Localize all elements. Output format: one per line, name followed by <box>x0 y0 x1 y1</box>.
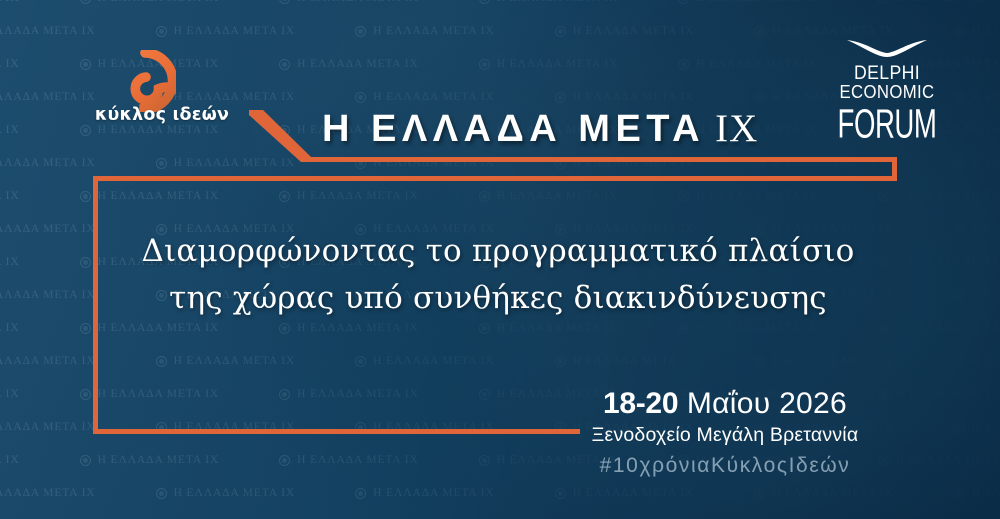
watermark-label: Η ΕΛΛΑΔΑ ΜΕΤΑ ΙΧ <box>0 454 20 466</box>
watermark-label: Η ΕΛΛΑΔΑ ΜΕΤΑ ΙΧ <box>696 322 818 334</box>
watermark-label: Η ΕΛΛΑΔΑ ΜΕΤΑ ΙΧ <box>174 355 296 367</box>
watermark-label: Η ΕΛΛΑΔΑ ΜΕΤΑ ΙΧ <box>0 0 20 4</box>
circle-outline-icon <box>878 191 889 202</box>
circle-outline-icon <box>555 26 566 37</box>
watermark-item: Η ΕΛΛΑΔΑ ΜΕΤΑ ΙΧ <box>954 487 1000 499</box>
circle-outline-icon <box>678 191 689 202</box>
watermark-item: Η ΕΛΛΑΔΑ ΜΕΤΑ ΙΧ <box>0 388 20 400</box>
poster-headline: Η ΕΛΛΑΔΑ ΜΕΤΑΙΧ <box>322 106 758 151</box>
watermark-item: Η ΕΛΛΑΔΑ ΜΕΤΑ ΙΧ <box>678 322 818 334</box>
circle-outline-icon <box>878 323 889 334</box>
watermark-item: Η ΕΛΛΑΔΑ ΜΕΤΑ ΙΧ <box>555 355 695 367</box>
watermark-label: Η ΕΛΛΑΔΑ ΜΕΤΑ ΙΧ <box>772 355 894 367</box>
watermark-label: Η ΕΛΛΑΔΑ ΜΕΤΑ ΙΧ <box>696 0 818 4</box>
watermark-label: Η ΕΛΛΑΔΑ ΜΕΤΑ ΙΧ <box>174 487 296 499</box>
watermark-item: Η ΕΛΛΑΔΑ ΜΕΤΑ ΙΧ <box>878 454 1000 466</box>
watermark-label: Η ΕΛΛΑΔΑ ΜΕΤΑ ΙΧ <box>98 124 220 136</box>
circle-outline-icon <box>80 455 91 466</box>
circle-outline-icon <box>555 488 566 499</box>
circle-outline-icon <box>954 356 965 367</box>
watermark-item: Η ΕΛΛΑΔΑ ΜΕΤΑ ΙΧ <box>80 124 220 136</box>
circle-outline-icon <box>678 0 689 4</box>
watermark-item: Η ΕΛΛΑΔΑ ΜΕΤΑ ΙΧ <box>878 388 1000 400</box>
watermark-label: Η ΕΛΛΑΔΑ ΜΕΤΑ ΙΧ <box>896 190 1000 202</box>
poster-subtitle: Διαμορφώνοντας το προγραμματικό πλαίσιο … <box>98 228 898 322</box>
watermark-label: Η ΕΛΛΑΔΑ ΜΕΤΑ ΙΧ <box>573 355 695 367</box>
watermark-item: Η ΕΛΛΑΔΑ ΜΕΤΑ ΙΧ <box>80 190 220 202</box>
circle-outline-icon <box>355 92 366 103</box>
watermark-item: Η ΕΛΛΑΔΑ ΜΕΤΑ ΙΧ <box>0 421 96 433</box>
circle-outline-icon <box>279 389 290 400</box>
watermark-item: Η ΕΛΛΑΔΑ ΜΕΤΑ ΙΧ <box>678 0 818 4</box>
event-poster: Η ΕΛΛΑΔΑ ΜΕΤΑ ΙΧΗ ΕΛΛΑΔΑ ΜΕΤΑ ΙΧΗ ΕΛΛΑΔΑ… <box>0 0 1000 519</box>
circle-outline-icon <box>555 92 566 103</box>
watermark-label: Η ΕΛΛΑΔΑ ΜΕΤΑ ΙΧ <box>972 421 1000 433</box>
circle-outline-icon <box>678 323 689 334</box>
watermark-item: Η ΕΛΛΑΔΑ ΜΕΤΑ ΙΧ <box>954 355 1000 367</box>
headline-underline <box>305 157 897 162</box>
circle-outline-icon <box>279 323 290 334</box>
circle-outline-icon <box>279 191 290 202</box>
watermark-item: Η ΕΛΛΑΔΑ ΜΕΤΑ ΙΧ <box>80 388 220 400</box>
watermark-label: Η ΕΛΛΑΔΑ ΜΕΤΑ ΙΧ <box>573 25 695 37</box>
circle-outline-icon <box>156 26 167 37</box>
watermark-item: Η ΕΛΛΑΔΑ ΜΕΤΑ ΙΧ <box>0 190 20 202</box>
spiral-circle-icon <box>114 50 176 112</box>
watermark-item: Η ΕΛΛΑΔΑ ΜΕΤΑ ΙΧ <box>0 58 20 70</box>
watermark-item: Η ΕΛΛΑΔΑ ΜΕΤΑ ΙΧ <box>954 25 1000 37</box>
circle-outline-icon <box>156 158 167 169</box>
watermark-label: Η ΕΛΛΑΔΑ ΜΕΤΑ ΙΧ <box>373 25 495 37</box>
circle-outline-icon <box>954 422 965 433</box>
watermark-label: Η ΕΛΛΑΔΑ ΜΕΤΑ ΙΧ <box>174 25 296 37</box>
watermark-label: Η ΕΛΛΑΔΑ ΜΕΤΑ ΙΧ <box>573 487 695 499</box>
circle-outline-icon <box>479 59 490 70</box>
watermark-item: Η ΕΛΛΑΔΑ ΜΕΤΑ ΙΧ <box>678 58 818 70</box>
watermark-item: Η ΕΛΛΑΔΑ ΜΕΤΑ ΙΧ <box>156 355 296 367</box>
watermark-label: Η ΕΛΛΑΔΑ ΜΕΤΑ ΙΧ <box>896 256 1000 268</box>
watermark-label: Η ΕΛΛΑΔΑ ΜΕΤΑ ΙΧ <box>0 25 96 37</box>
circle-outline-icon <box>754 26 765 37</box>
headline-main: Η ΕΛΛΑΔΑ ΜΕΤΑ <box>322 108 705 150</box>
watermark-label: Η ΕΛΛΑΔΑ ΜΕΤΑ ΙΧ <box>0 487 96 499</box>
circle-outline-icon <box>754 356 765 367</box>
circle-outline-icon <box>954 224 965 235</box>
circle-outline-icon <box>878 0 889 4</box>
circle-outline-icon <box>355 26 366 37</box>
circle-outline-icon <box>678 59 689 70</box>
event-details: 18-20 Μαΐου 2026 Ξενοδοχείο Μεγάλη Βρετα… <box>560 387 890 478</box>
circle-outline-icon <box>279 0 290 4</box>
watermark-label: Η ΕΛΛΑΔΑ ΜΕΤΑ ΙΧ <box>696 190 818 202</box>
frame-bottom-edge <box>93 429 580 434</box>
circle-outline-icon <box>479 0 490 4</box>
watermark-item: Η ΕΛΛΑΔΑ ΜΕΤΑ ΙΧ <box>279 58 419 70</box>
event-date: 18-20 Μαΐου 2026 <box>560 387 890 421</box>
watermark-label: Η ΕΛΛΑΔΑ ΜΕΤΑ ΙΧ <box>0 223 96 235</box>
watermark-label: Η ΕΛΛΑΔΑ ΜΕΤΑ ΙΧ <box>0 421 96 433</box>
watermark-label: Η ΕΛΛΑΔΑ ΜΕΤΑ ΙΧ <box>98 322 220 334</box>
watermark-label: Η ΕΛΛΑΔΑ ΜΕΤΑ ΙΧ <box>896 0 1000 4</box>
circle-outline-icon <box>355 488 366 499</box>
watermark-label: Η ΕΛΛΑΔΑ ΜΕΤΑ ΙΧ <box>0 322 20 334</box>
watermark-item: Η ΕΛΛΑΔΑ ΜΕΤΑ ΙΧ <box>878 0 1000 4</box>
watermark-label: Η ΕΛΛΑΔΑ ΜΕΤΑ ΙΧ <box>297 322 419 334</box>
watermark-item: Η ΕΛΛΑΔΑ ΜΕΤΑ ΙΧ <box>0 355 96 367</box>
frame-top-edge <box>93 176 897 181</box>
watermark-item: Η ΕΛΛΑΔΑ ΜΕΤΑ ΙΧ <box>954 289 1000 301</box>
watermark-label: Η ΕΛΛΑΔΑ ΜΕΤΑ ΙΧ <box>98 190 220 202</box>
watermark-label: Η ΕΛΛΑΔΑ ΜΕΤΑ ΙΧ <box>98 388 220 400</box>
watermark-item: Η ΕΛΛΑΔΑ ΜΕΤΑ ΙΧ <box>555 487 695 499</box>
watermark-item: Η ΕΛΛΑΔΑ ΜΕΤΑ ΙΧ <box>156 25 296 37</box>
headline-roman-numeral: ΙΧ <box>705 107 758 150</box>
watermark-item: Η ΕΛΛΑΔΑ ΜΕΤΑ ΙΧ <box>954 91 1000 103</box>
watermark-label: Η ΕΛΛΑΔΑ ΜΕΤΑ ΙΧ <box>297 190 419 202</box>
watermark-label: Η ΕΛΛΑΔΑ ΜΕΤΑ ΙΧ <box>772 487 894 499</box>
watermark-label: Η ΕΛΛΑΔΑ ΜΕΤΑ ΙΧ <box>0 289 96 301</box>
watermark-label: Η ΕΛΛΑΔΑ ΜΕΤΑ ΙΧ <box>772 25 894 37</box>
watermark-item: Η ΕΛΛΑΔΑ ΜΕΤΑ ΙΧ <box>754 487 894 499</box>
watermark-label: Η ΕΛΛΑΔΑ ΜΕΤΑ ΙΧ <box>297 454 419 466</box>
watermark-label: Η ΕΛΛΑΔΑ ΜΕΤΑ ΙΧ <box>297 58 419 70</box>
watermark-label: Η ΕΛΛΑΔΑ ΜΕΤΑ ΙΧ <box>373 355 495 367</box>
watermark-label: Η ΕΛΛΑΔΑ ΜΕΤΑ ΙΧ <box>972 157 1000 169</box>
circle-outline-icon <box>355 356 366 367</box>
circle-outline-icon <box>555 356 566 367</box>
watermark-item: Η ΕΛΛΑΔΑ ΜΕΤΑ ΙΧ <box>355 487 495 499</box>
watermark-label: Η ΕΛΛΑΔΑ ΜΕΤΑ ΙΧ <box>497 322 619 334</box>
watermark-label: Η ΕΛΛΑΔΑ ΜΕΤΑ ΙΧ <box>972 91 1000 103</box>
watermark-item: Η ΕΛΛΑΔΑ ΜΕΤΑ ΙΧ <box>80 0 220 4</box>
watermark-label: Η ΕΛΛΑΔΑ ΜΕΤΑ ΙΧ <box>98 0 220 4</box>
watermark-label: Η ΕΛΛΑΔΑ ΜΕΤΑ ΙΧ <box>896 454 1000 466</box>
watermark-item: Η ΕΛΛΑΔΑ ΜΕΤΑ ΙΧ <box>678 190 818 202</box>
watermark-label: Η ΕΛΛΑΔΑ ΜΕΤΑ ΙΧ <box>0 190 20 202</box>
watermark-item: Η ΕΛΛΑΔΑ ΜΕΤΑ ΙΧ <box>355 91 495 103</box>
watermark-item: Η ΕΛΛΑΔΑ ΜΕΤΑ ΙΧ <box>754 355 894 367</box>
watermark-item: Η ΕΛΛΑΔΑ ΜΕΤΑ ΙΧ <box>479 0 619 4</box>
watermark-item: Η ΕΛΛΑΔΑ ΜΕΤΑ ΙΧ <box>479 322 619 334</box>
watermark-item: Η ΕΛΛΑΔΑ ΜΕΤΑ ΙΧ <box>279 0 419 4</box>
watermark-label: Η ΕΛΛΑΔΑ ΜΕΤΑ ΙΧ <box>0 256 20 268</box>
watermark-row: Η ΕΛΛΑΔΑ ΜΕΤΑ ΙΧΗ ΕΛΛΑΔΑ ΜΕΤΑ ΙΧΗ ΕΛΛΑΔΑ… <box>0 0 1000 4</box>
kyklos-ideon-logo: κύκλος ιδεών <box>82 50 242 125</box>
event-hashtag: #10χρόνιαΚύκλοςΙδεών <box>560 454 890 478</box>
watermark-label: Η ΕΛΛΑΔΑ ΜΕΤΑ ΙΧ <box>972 289 1000 301</box>
watermark-item: Η ΕΛΛΑΔΑ ΜΕΤΑ ΙΧ <box>0 157 96 169</box>
watermark-item: Η ΕΛΛΑΔΑ ΜΕΤΑ ΙΧ <box>0 25 96 37</box>
circle-outline-icon <box>479 389 490 400</box>
watermark-label: Η ΕΛΛΑΔΑ ΜΕΤΑ ΙΧ <box>497 0 619 4</box>
watermark-item: Η ΕΛΛΑΔΑ ΜΕΤΑ ΙΧ <box>555 91 695 103</box>
subtitle-line-2: της χώρας υπό συνθήκες διακινδύνευσης <box>98 275 898 322</box>
watermark-item: Η ΕΛΛΑΔΑ ΜΕΤΑ ΙΧ <box>479 190 619 202</box>
watermark-label: Η ΕΛΛΑΔΑ ΜΕΤΑ ΙΧ <box>0 58 20 70</box>
watermark-item: Η ΕΛΛΑΔΑ ΜΕΤΑ ΙΧ <box>878 190 1000 202</box>
watermark-label: Η ΕΛΛΑΔΑ ΜΕΤΑ ΙΧ <box>0 355 96 367</box>
watermark-item: Η ΕΛΛΑΔΑ ΜΕΤΑ ΙΧ <box>279 388 419 400</box>
delphi-economic-forum-logo: DELPHI ECONOMIC FORUM <box>828 38 946 135</box>
kyklos-ideon-name: κύκλος ιδεών <box>82 105 242 125</box>
watermark-item: Η ΕΛΛΑΔΑ ΜΕΤΑ ΙΧ <box>156 487 296 499</box>
watermark-item: Η ΕΛΛΑΔΑ ΜΕΤΑ ΙΧ <box>0 124 20 136</box>
circle-outline-icon <box>80 323 91 334</box>
watermark-item: Η ΕΛΛΑΔΑ ΜΕΤΑ ΙΧ <box>754 25 894 37</box>
watermark-label: Η ΕΛΛΑΔΑ ΜΕΤΑ ΙΧ <box>373 91 495 103</box>
watermark-item: Η ΕΛΛΑΔΑ ΜΕΤΑ ΙΧ <box>279 190 419 202</box>
circle-outline-icon <box>80 191 91 202</box>
watermark-item: Η ΕΛΛΑΔΑ ΜΕΤΑ ΙΧ <box>355 355 495 367</box>
circle-outline-icon <box>156 488 167 499</box>
watermark-item: Η ΕΛΛΑΔΑ ΜΕΤΑ ΙΧ <box>954 421 1000 433</box>
circle-outline-icon <box>754 92 765 103</box>
circle-outline-icon <box>479 323 490 334</box>
watermark-item: Η ΕΛΛΑΔΑ ΜΕΤΑ ΙΧ <box>0 223 96 235</box>
watermark-label: Η ΕΛΛΑΔΑ ΜΕΤΑ ΙΧ <box>0 124 20 136</box>
watermark-row: Η ΕΛΛΑΔΑ ΜΕΤΑ ΙΧΗ ΕΛΛΑΔΑ ΜΕΤΑ ΙΧΗ ΕΛΛΑΔΑ… <box>0 322 1000 334</box>
circle-outline-icon <box>754 488 765 499</box>
watermark-item: Η ΕΛΛΑΔΑ ΜΕΤΑ ΙΧ <box>0 487 96 499</box>
watermark-item: Η ΕΛΛΑΔΑ ΜΕΤΑ ΙΧ <box>954 223 1000 235</box>
circle-outline-icon <box>479 455 490 466</box>
circle-outline-icon <box>954 488 965 499</box>
watermark-label: Η ΕΛΛΑΔΑ ΜΕΤΑ ΙΧ <box>297 0 419 4</box>
watermark-item: Η ΕΛΛΑΔΑ ΜΕΤΑ ΙΧ <box>355 25 495 37</box>
watermark-item: Η ΕΛΛΑΔΑ ΜΕΤΑ ΙΧ <box>0 256 20 268</box>
watermark-item: Η ΕΛΛΑΔΑ ΜΕΤΑ ΙΧ <box>0 454 20 466</box>
watermark-item: Η ΕΛΛΑΔΑ ΜΕΤΑ ΙΧ <box>80 322 220 334</box>
watermark-label: Η ΕΛΛΑΔΑ ΜΕΤΑ ΙΧ <box>972 223 1000 235</box>
watermark-label: Η ΕΛΛΑΔΑ ΜΕΤΑ ΙΧ <box>98 454 220 466</box>
watermark-label: Η ΕΛΛΑΔΑ ΜΕΤΑ ΙΧ <box>896 322 1000 334</box>
watermark-label: Η ΕΛΛΑΔΑ ΜΕΤΑ ΙΧ <box>573 91 695 103</box>
watermark-item: Η ΕΛΛΑΔΑ ΜΕΤΑ ΙΧ <box>0 289 96 301</box>
watermark-row: Η ΕΛΛΑΔΑ ΜΕΤΑ ΙΧΗ ΕΛΛΑΔΑ ΜΕΤΑ ΙΧΗ ΕΛΛΑΔΑ… <box>0 25 1000 37</box>
circle-outline-icon <box>954 158 965 169</box>
circle-outline-icon <box>279 59 290 70</box>
circle-outline-icon <box>156 356 167 367</box>
watermark-item: Η ΕΛΛΑΔΑ ΜΕΤΑ ΙΧ <box>555 25 695 37</box>
circle-outline-icon <box>954 92 965 103</box>
circle-outline-icon <box>279 455 290 466</box>
circle-outline-icon <box>80 125 91 136</box>
watermark-label: Η ΕΛΛΑΔΑ ΜΕΤΑ ΙΧ <box>696 58 818 70</box>
event-date-rest: Μαΐου 2026 <box>687 387 847 420</box>
watermark-item: Η ΕΛΛΑΔΑ ΜΕΤΑ ΙΧ <box>479 58 619 70</box>
watermark-row: Η ΕΛΛΑΔΑ ΜΕΤΑ ΙΧΗ ΕΛΛΑΔΑ ΜΕΤΑ ΙΧΗ ΕΛΛΑΔΑ… <box>0 190 1000 202</box>
watermark-item: Η ΕΛΛΑΔΑ ΜΕΤΑ ΙΧ <box>0 0 20 4</box>
watermark-row: Η ΕΛΛΑΔΑ ΜΕΤΑ ΙΧΗ ΕΛΛΑΔΑ ΜΕΤΑ ΙΧΗ ΕΛΛΑΔΑ… <box>0 355 1000 367</box>
watermark-label: Η ΕΛΛΑΔΑ ΜΕΤΑ ΙΧ <box>497 58 619 70</box>
watermark-item: Η ΕΛΛΑΔΑ ΜΕΤΑ ΙΧ <box>878 322 1000 334</box>
watermark-label: Η ΕΛΛΑΔΑ ΜΕΤΑ ΙΧ <box>297 388 419 400</box>
subtitle-line-1: Διαμορφώνοντας το προγραμματικό πλαίσιο <box>141 233 854 269</box>
event-venue: Ξενοδοχείο Μεγάλη Βρεταννία <box>560 424 890 447</box>
circle-outline-icon <box>80 257 91 268</box>
watermark-label: Η ΕΛΛΑΔΑ ΜΕΤΑ ΙΧ <box>972 487 1000 499</box>
watermark-item: Η ΕΛΛΑΔΑ ΜΕΤΑ ΙΧ <box>279 322 419 334</box>
watermark-label: Η ΕΛΛΑΔΑ ΜΕΤΑ ΙΧ <box>0 388 20 400</box>
watermark-label: Η ΕΛΛΑΔΑ ΜΕΤΑ ΙΧ <box>0 157 96 169</box>
watermark-item: Η ΕΛΛΑΔΑ ΜΕΤΑ ΙΧ <box>279 454 419 466</box>
delphi-line-3: FORUM <box>833 105 942 146</box>
watermark-item: Η ΕΛΛΑΔΑ ΜΕΤΑ ΙΧ <box>80 454 220 466</box>
watermark-label: Η ΕΛΛΑΔΑ ΜΕΤΑ ΙΧ <box>497 190 619 202</box>
delphi-line-1: DELPHI <box>832 64 942 83</box>
event-date-number: 18-20 <box>603 387 678 420</box>
circle-outline-icon <box>80 389 91 400</box>
watermark-label: Η ΕΛΛΑΔΑ ΜΕΤΑ ΙΧ <box>896 388 1000 400</box>
watermark-item: Η ΕΛΛΑΔΑ ΜΕΤΑ ΙΧ <box>954 157 1000 169</box>
watermark-row: Η ΕΛΛΑΔΑ ΜΕΤΑ ΙΧΗ ΕΛΛΑΔΑ ΜΕΤΑ ΙΧΗ ΕΛΛΑΔΑ… <box>0 487 1000 499</box>
swoosh-icon <box>845 38 929 58</box>
circle-outline-icon <box>954 26 965 37</box>
delphi-line-2: ECONOMIC <box>832 83 942 101</box>
watermark-label: Η ΕΛΛΑΔΑ ΜΕΤΑ ΙΧ <box>972 355 1000 367</box>
watermark-label: Η ΕΛΛΑΔΑ ΜΕΤΑ ΙΧ <box>373 487 495 499</box>
circle-outline-icon <box>80 0 91 4</box>
circle-outline-icon <box>954 290 965 301</box>
watermark-item: Η ΕΛΛΑΔΑ ΜΕΤΑ ΙΧ <box>0 322 20 334</box>
circle-outline-icon <box>479 191 490 202</box>
watermark-label: Η ΕΛΛΑΔΑ ΜΕΤΑ ΙΧ <box>972 25 1000 37</box>
